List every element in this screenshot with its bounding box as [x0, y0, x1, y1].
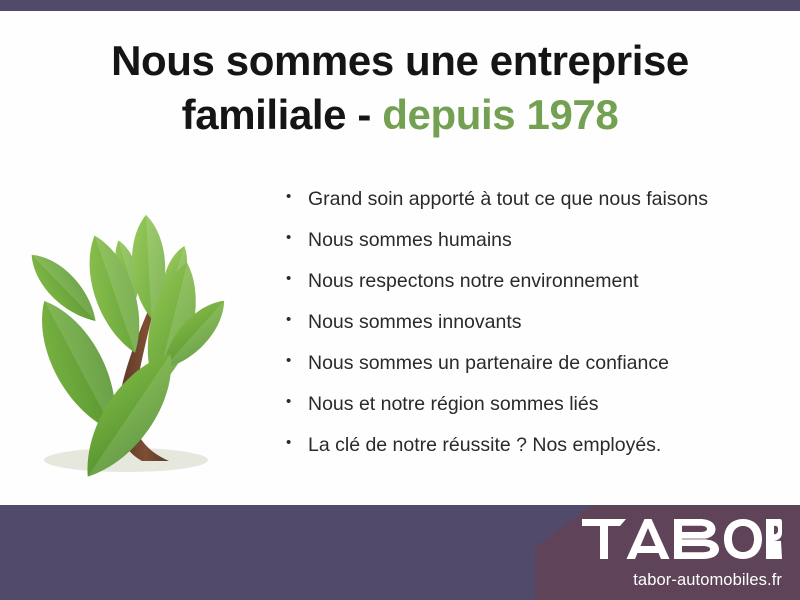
page-title: Nous sommes une entreprise familiale - d…: [0, 34, 800, 142]
list-item: La clé de notre réussite ? Nos employés.: [286, 436, 786, 456]
headline-line-1: Nous sommes une entreprise: [0, 34, 800, 88]
tree-illustration: [14, 184, 270, 488]
presentation-slide: Nous sommes une entreprise familiale - d…: [0, 0, 800, 600]
top-accent-bar: [0, 0, 800, 11]
list-item: Nous sommes un partenaire de confiance: [286, 354, 786, 374]
headline-line-2: familiale - depuis 1978: [0, 88, 800, 142]
list-item: Nous et notre région sommes liés: [286, 395, 786, 415]
list-item: Nous sommes humains: [286, 231, 786, 251]
value-bullet-list: Grand soin apporté à tout ce que nous fa…: [286, 190, 786, 477]
list-item: Nous sommes innovants: [286, 313, 786, 333]
list-item: Grand soin apporté à tout ce que nous fa…: [286, 190, 786, 210]
tabor-wordmark-icon: [582, 519, 782, 559]
brand-logo-plaque: tabor-automobiles.fr: [535, 505, 800, 600]
brand-tagline: tabor-automobiles.fr: [633, 571, 782, 590]
list-item: Nous respectons notre environnement: [286, 272, 786, 292]
headline-accent-text: depuis 1978: [382, 91, 618, 138]
headline-plain-text: familiale -: [182, 91, 383, 138]
